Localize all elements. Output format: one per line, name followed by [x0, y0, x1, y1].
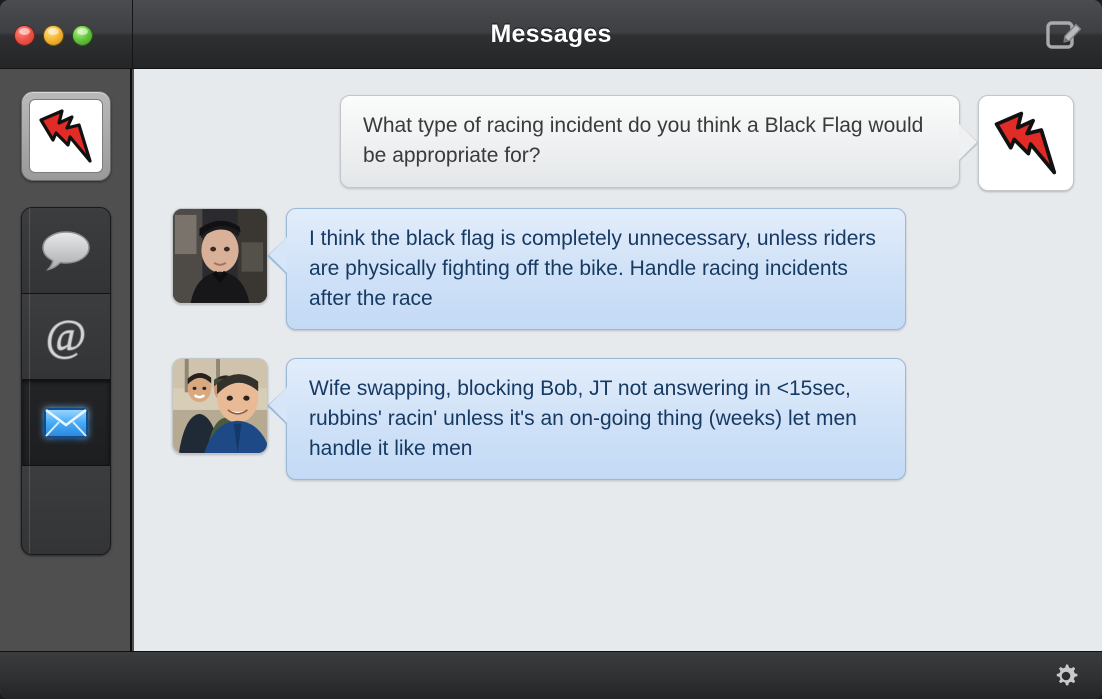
- messages-window: Messages: [0, 0, 1102, 699]
- segment-rail: [29, 294, 30, 379]
- person-photo-avatar-icon: [173, 208, 267, 304]
- speech-bubble-icon: [39, 228, 93, 274]
- message-row: I think the black flag is completely unn…: [172, 208, 906, 330]
- gear-icon: [1052, 662, 1080, 690]
- sidebar-account-avatar-button[interactable]: [21, 91, 111, 181]
- envelope-icon: [37, 401, 95, 445]
- title-bar: Messages: [0, 0, 1102, 69]
- message-text: What type of racing incident do you thin…: [363, 111, 937, 171]
- sidebar: @: [0, 69, 132, 651]
- message-bubble[interactable]: I think the black flag is completely unn…: [286, 208, 906, 330]
- settings-button[interactable]: [1048, 658, 1084, 694]
- avatar[interactable]: [172, 358, 268, 454]
- message-bubble[interactable]: Wife swapping, blocking Bob, JT not answ…: [286, 358, 906, 480]
- message-row: What type of racing incident do you thin…: [340, 95, 1074, 191]
- page-title: Messages: [0, 0, 1102, 69]
- status-bar: [0, 651, 1102, 699]
- avatar: [29, 99, 103, 173]
- segment-rail: [29, 380, 30, 465]
- sidebar-item-mail[interactable]: [22, 380, 110, 466]
- lightning-bolt-icon: [32, 104, 100, 168]
- sidebar-item-mentions[interactable]: @: [22, 294, 110, 380]
- sidebar-segment-empty: [22, 466, 110, 554]
- segment-rail: [29, 208, 30, 293]
- message-text: I think the black flag is completely unn…: [309, 224, 883, 313]
- segment-rail: [29, 466, 30, 554]
- message-text: Wife swapping, blocking Bob, JT not answ…: [309, 374, 883, 463]
- avatar[interactable]: [172, 208, 268, 304]
- lightning-bolt-avatar-icon: [986, 105, 1066, 181]
- sidebar-segmented-control: @: [21, 207, 111, 555]
- compose-message-button[interactable]: [1042, 14, 1086, 56]
- conversation-pane[interactable]: What type of racing incident do you thin…: [134, 69, 1102, 651]
- at-sign-icon: @: [40, 311, 92, 363]
- svg-text:@: @: [46, 311, 87, 360]
- message-bubble[interactable]: What type of racing incident do you thin…: [340, 95, 960, 188]
- message-row: Wife swapping, blocking Bob, JT not answ…: [172, 358, 906, 480]
- sidebar-item-messages[interactable]: [22, 208, 110, 294]
- compose-icon: [1045, 17, 1083, 53]
- avatar[interactable]: [978, 95, 1074, 191]
- group-photo-avatar-icon: [173, 358, 267, 454]
